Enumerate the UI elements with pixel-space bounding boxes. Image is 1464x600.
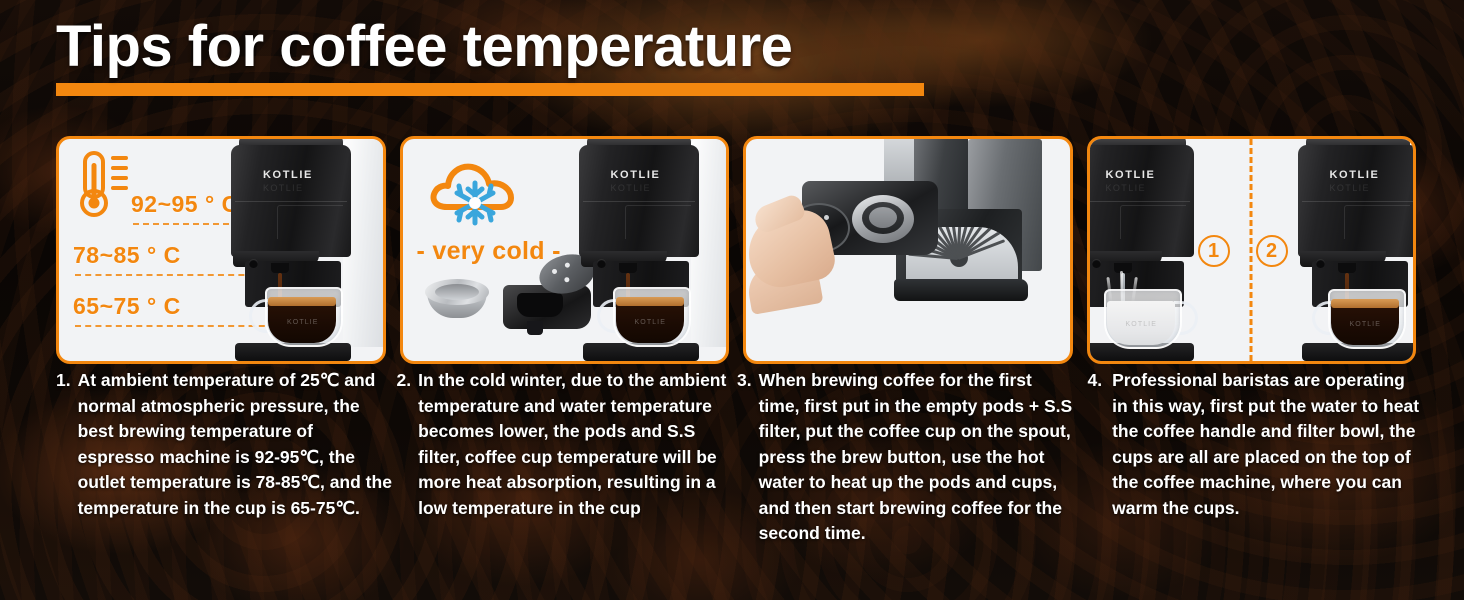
cup-brand-label: KOTLIE xyxy=(635,319,667,326)
panel-temperature: 92~95 ° C 78~85 ° C 65~75 ° C KOTLIE KOT… xyxy=(56,136,386,364)
machine-back-wall xyxy=(884,136,918,187)
caption-3-text: When brewing coffee for the first time, … xyxy=(759,368,1074,547)
filter-well xyxy=(435,284,479,300)
ss-filter-bowl xyxy=(425,279,489,321)
caption-4: 4. Professional baristas are operating i… xyxy=(1078,368,1425,547)
filter-bowl-mesh xyxy=(869,207,897,228)
machine-spout xyxy=(271,263,289,273)
caption-4-number: 4. xyxy=(1088,368,1113,547)
cup-crema xyxy=(616,297,684,306)
pod-stem xyxy=(527,321,543,335)
temperature-label-cup: 65~75 ° C xyxy=(73,293,181,320)
machine-brand-shadow: KOTLIE xyxy=(1330,183,1370,193)
machine-spout xyxy=(1338,263,1356,273)
machine-spout xyxy=(619,263,637,273)
machine-brand-shadow: KOTLIE xyxy=(1106,183,1146,193)
machine-seam xyxy=(583,201,695,202)
temperature-label-outlet: 78~85 ° C xyxy=(73,242,181,269)
caption-1: 1. At ambient temperature of 25℃ and nor… xyxy=(56,368,393,547)
caption-1-number: 1. xyxy=(56,368,78,547)
cloud-snowflake-icon xyxy=(425,151,530,229)
caption-2: 2. In the cold winter, due to the ambien… xyxy=(397,368,734,547)
brew-button[interactable] xyxy=(249,259,258,268)
step-badge-2: 2 xyxy=(1256,235,1288,267)
machine-brand-label: KOTLIE xyxy=(263,169,313,181)
title-underline-bar xyxy=(56,83,924,96)
espresso-cup: KOTLIE xyxy=(1328,289,1406,355)
espresso-cup: KOTLIE xyxy=(613,287,691,353)
machine-brand-shadow: KOTLIE xyxy=(611,183,651,193)
panel-barista: KOTLIE KOTLIE KOTLIE 1 2 xyxy=(1087,136,1417,364)
cup-crema xyxy=(268,297,336,306)
page-title: Tips for coffee temperature xyxy=(56,16,956,78)
machine-brand-shadow: KOTLIE xyxy=(263,183,303,193)
brew-button[interactable] xyxy=(597,259,606,268)
hand-holding-handle xyxy=(748,197,860,309)
caption-3: 3. When brewing coffee for the first tim… xyxy=(737,368,1074,547)
step-badge-1: 1 xyxy=(1198,235,1230,267)
machine-brand-label: KOTLIE xyxy=(1106,169,1156,181)
caption-1-text: At ambient temperature of 25℃ and normal… xyxy=(78,368,393,547)
title-block: Tips for coffee temperature xyxy=(56,16,956,96)
machine-body: KOTLIE KOTLIE xyxy=(1087,145,1194,257)
machine-door xyxy=(1344,205,1410,239)
temperature-label-brewing: 92~95 ° C xyxy=(131,191,239,218)
thermometer-icon xyxy=(73,149,135,221)
drip-tray-base xyxy=(894,279,1028,301)
machine-door xyxy=(277,205,343,239)
cup-brand-label: KOTLIE xyxy=(287,319,319,326)
caption-2-text: In the cold winter, due to the ambient t… xyxy=(418,368,733,547)
cup-crema xyxy=(1331,299,1399,308)
cup-brand-label: KOTLIE xyxy=(1126,321,1158,328)
snowflake-center xyxy=(469,197,481,209)
machine-seam xyxy=(1087,201,1190,202)
panel-handle xyxy=(743,136,1073,364)
machine-body: KOTLIE KOTLIE xyxy=(231,145,351,257)
machine-brand-label: KOTLIE xyxy=(611,169,661,181)
brew-button[interactable] xyxy=(1092,259,1101,268)
caption-3-number: 3. xyxy=(737,368,759,547)
machine-spout xyxy=(1114,263,1132,273)
brew-button[interactable] xyxy=(1316,259,1325,268)
machine-body: KOTLIE KOTLIE xyxy=(579,145,699,257)
machine-seam xyxy=(235,201,347,202)
panel-cold: - very cold - KOTLIE KOTLIE xyxy=(400,136,730,364)
warming-cup: KOTLIE xyxy=(1104,289,1182,355)
machine-body: KOTLIE KOTLIE xyxy=(1298,145,1417,257)
machine-door xyxy=(625,205,691,239)
machine-seam xyxy=(1302,201,1414,202)
panel-divider-dashed xyxy=(1250,139,1253,361)
caption-row: 1. At ambient temperature of 25℃ and nor… xyxy=(56,368,1424,547)
machine-brand-label: KOTLIE xyxy=(1330,169,1380,181)
panel-row: 92~95 ° C 78~85 ° C 65~75 ° C KOTLIE KOT… xyxy=(56,136,1416,364)
caption-4-text: Professional baristas are operating in t… xyxy=(1112,368,1424,547)
machine-door xyxy=(1120,205,1186,239)
cup-brand-label: KOTLIE xyxy=(1350,321,1382,328)
espresso-cup: KOTLIE xyxy=(265,287,343,353)
caption-2-number: 2. xyxy=(397,368,419,547)
pod-cavity xyxy=(517,293,563,317)
